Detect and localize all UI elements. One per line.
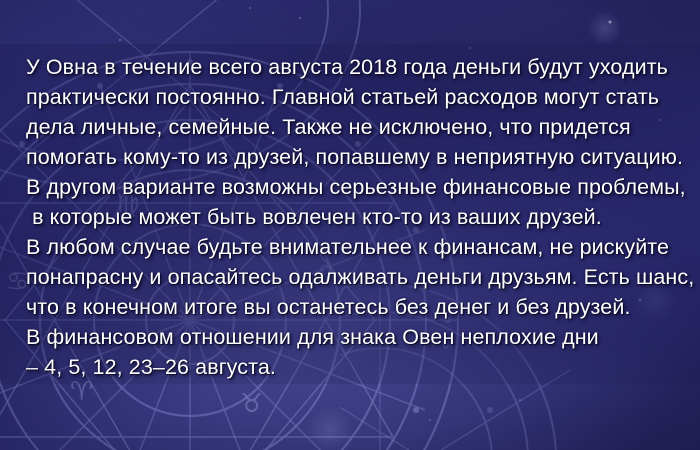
text-line: У Овна в течение всего августа 2018 года… bbox=[26, 52, 686, 82]
horoscope-text: У Овна в течение всего августа 2018 года… bbox=[26, 52, 686, 382]
text-line: понапрасну и опасайтесь одалживать деньг… bbox=[26, 262, 686, 292]
text-line: В финансовом отношении для знака Овен не… bbox=[26, 322, 686, 352]
text-line: помогать кому-то из друзей, попавшему в … bbox=[26, 142, 686, 172]
text-line: практически постоянно. Главной статьей р… bbox=[26, 82, 686, 112]
text-line: в которые может быть вовлечен кто-то из … bbox=[26, 202, 686, 232]
text-line: В любом случае будьте внимательнее к фин… bbox=[26, 232, 686, 262]
horoscope-card: ♈ ♉ ♊ ♋ ♌ ♍ bbox=[0, 0, 700, 450]
text-line: В другом варианте возможны серьезные фин… bbox=[26, 172, 686, 202]
text-line: дела личные, семейные. Также не исключен… bbox=[26, 112, 686, 142]
svg-text:♉: ♉ bbox=[240, 389, 263, 419]
text-line: что в конечном итоге вы останетесь без д… bbox=[26, 292, 686, 322]
text-line: – 4, 5, 12, 23–26 августа. bbox=[26, 352, 686, 382]
